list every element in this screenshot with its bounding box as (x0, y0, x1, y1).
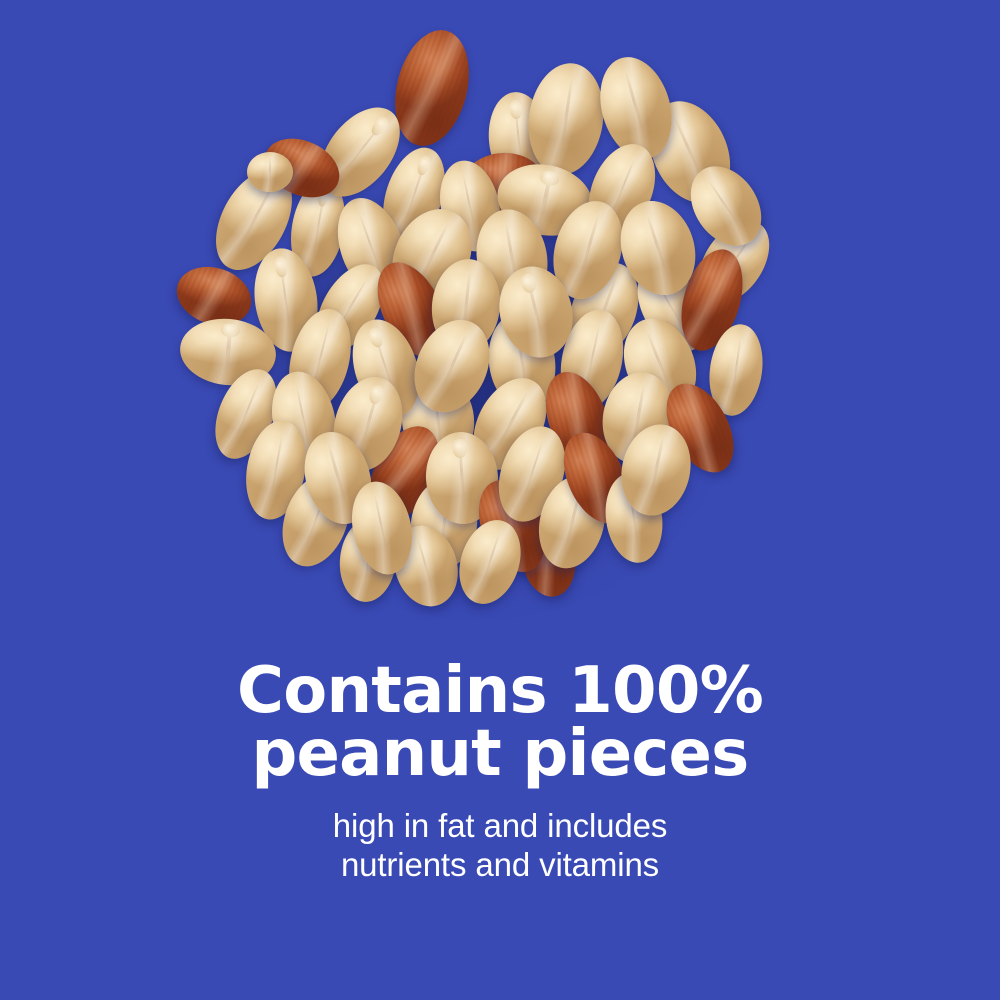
copy-block: Contains 100% peanut pieces high in fat … (0, 660, 1000, 885)
peanut-germ (274, 256, 289, 278)
headline-line-2: peanut pieces (60, 723, 940, 786)
peanut-pile-image (0, 0, 1000, 660)
subtitle: high in fat and includes nutrients and v… (0, 807, 1000, 885)
peanut-germ (220, 323, 240, 338)
page-title: Contains 100% peanut pieces (0, 660, 1000, 787)
peanut-blanched (247, 152, 293, 192)
peanut-pile-group (0, 0, 1000, 660)
peanut-germ (367, 383, 385, 405)
headline-line-1: Contains 100% (60, 660, 940, 723)
peanut-germ (539, 169, 561, 187)
subtitle-line-2: nutrients and vitamins (0, 846, 1000, 885)
peanut-germ (415, 154, 432, 176)
product-graphic-canvas: Contains 100% peanut pieces high in fat … (0, 0, 1000, 1000)
peanut-germ (367, 326, 385, 349)
peanut-germ (509, 99, 523, 119)
peanut-germ (452, 439, 468, 458)
subtitle-line-1: high in fat and includes (0, 807, 1000, 846)
peanut-germ (520, 273, 538, 294)
peanut-germ (369, 114, 391, 138)
